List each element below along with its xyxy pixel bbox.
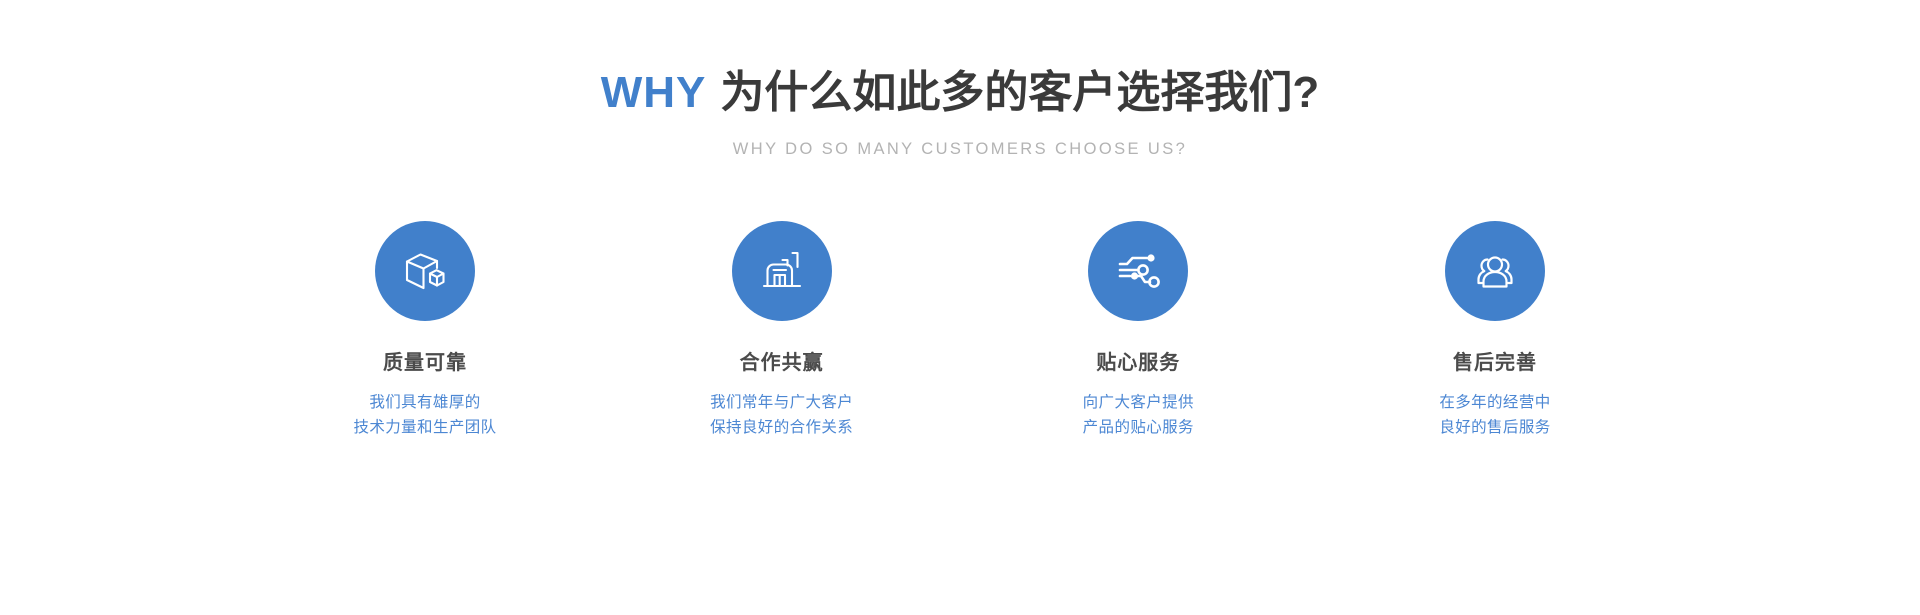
feature-item-service[interactable]: 贴心服务 向广大客户提供 产品的贴心服务: [1018, 221, 1258, 440]
feature-icon-circle: [1088, 221, 1188, 321]
feature-list: 质量可靠 我们具有雄厚的 技术力量和生产团队: [305, 221, 1615, 440]
feature-description-line-1: 在多年的经营中: [1439, 390, 1550, 415]
feature-title: 贴心服务: [1096, 351, 1180, 375]
title-chinese: 为什么如此多的客户选择我们?: [720, 68, 1319, 117]
feature-description-line-1: 我们具有雄厚的: [353, 390, 496, 415]
feature-item-cooperation[interactable]: 合作共赢 我们常年与广大客户 保持良好的合作关系: [662, 221, 902, 440]
feature-description: 我们具有雄厚的 技术力量和生产团队: [353, 390, 496, 440]
feature-description-line-2: 保持良好的合作关系: [710, 415, 853, 440]
heading-block: WHY为什么如此多的客户选择我们? WHY DO SO MANY CUSTOME…: [601, 68, 1320, 157]
feature-description-line-2: 技术力量和生产团队: [353, 415, 496, 440]
feature-title: 合作共赢: [740, 351, 824, 375]
feature-icon-circle: [375, 221, 475, 321]
feature-description-line-1: 向广大客户提供: [1083, 390, 1194, 415]
circuit-nodes-icon: [1112, 245, 1164, 297]
feature-description: 向广大客户提供 产品的贴心服务: [1083, 390, 1194, 440]
feature-title: 质量可靠: [383, 351, 467, 375]
package-box-icon: [399, 245, 451, 297]
feature-description-line-1: 我们常年与广大客户: [710, 390, 853, 415]
feature-item-quality[interactable]: 质量可靠 我们具有雄厚的 技术力量和生产团队: [305, 221, 545, 440]
feature-item-aftersales[interactable]: 售后完善 在多年的经营中 良好的售后服务: [1375, 221, 1615, 440]
people-group-icon: [1469, 245, 1521, 297]
page-title: WHY为什么如此多的客户选择我们?: [601, 68, 1320, 119]
page-subtitle: WHY DO SO MANY CUSTOMERS CHOOSE US?: [601, 141, 1320, 158]
factory-icon: [756, 245, 808, 297]
feature-icon-circle: [732, 221, 832, 321]
feature-icon-circle: [1445, 221, 1545, 321]
why-choose-us-section: WHY为什么如此多的客户选择我们? WHY DO SO MANY CUSTOME…: [0, 0, 1920, 615]
feature-description: 我们常年与广大客户 保持良好的合作关系: [710, 390, 853, 440]
title-eyebrow-why: WHY: [601, 68, 707, 117]
feature-description-line-2: 产品的贴心服务: [1083, 415, 1194, 440]
feature-description-line-2: 良好的售后服务: [1439, 415, 1550, 440]
feature-title: 售后完善: [1453, 351, 1537, 375]
feature-description: 在多年的经营中 良好的售后服务: [1439, 390, 1550, 440]
